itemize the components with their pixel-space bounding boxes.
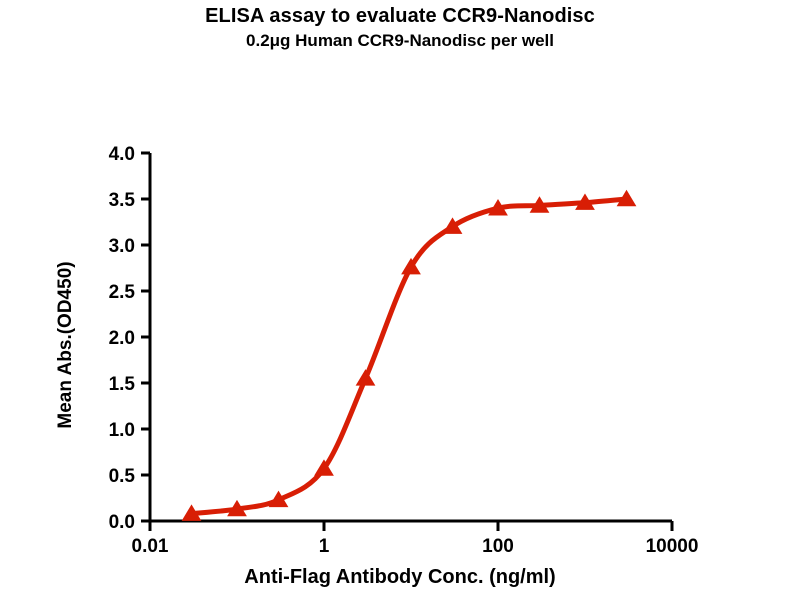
plot-area: 0.00.51.01.52.02.53.03.54.0 0.0111001000… xyxy=(0,0,800,600)
svg-text:1: 1 xyxy=(319,536,330,557)
data-markers xyxy=(183,191,636,521)
svg-text:3.5: 3.5 xyxy=(109,190,136,211)
svg-text:0.01: 0.01 xyxy=(132,536,169,557)
data-point-marker xyxy=(357,370,375,385)
x-axis-label-text: Anti-Flag Antibody Conc. (ng/ml) xyxy=(0,566,800,589)
y-axis-ticks: 0.00.51.01.52.02.53.03.54.0 xyxy=(109,144,150,533)
svg-text:1.0: 1.0 xyxy=(109,420,135,441)
svg-text:100: 100 xyxy=(482,536,514,557)
data-curve xyxy=(192,199,627,514)
elisa-chart-figure: ELISA assay to evaluate CCR9-Nanodisc 0.… xyxy=(0,0,800,600)
x-axis-ticks: 0.01110010000 xyxy=(132,521,699,557)
y-axis-label: Mean Abs.(OD450) xyxy=(44,200,88,490)
svg-text:0.5: 0.5 xyxy=(109,466,136,487)
svg-text:4.0: 4.0 xyxy=(109,144,135,165)
svg-text:0.0: 0.0 xyxy=(109,512,135,533)
svg-text:2.5: 2.5 xyxy=(109,282,136,303)
y-axis-label-text: Mean Abs.(OD450) xyxy=(55,261,77,428)
svg-text:10000: 10000 xyxy=(646,536,699,557)
svg-text:2.0: 2.0 xyxy=(109,328,135,349)
svg-text:3.0: 3.0 xyxy=(109,236,135,257)
svg-text:1.5: 1.5 xyxy=(109,374,136,395)
